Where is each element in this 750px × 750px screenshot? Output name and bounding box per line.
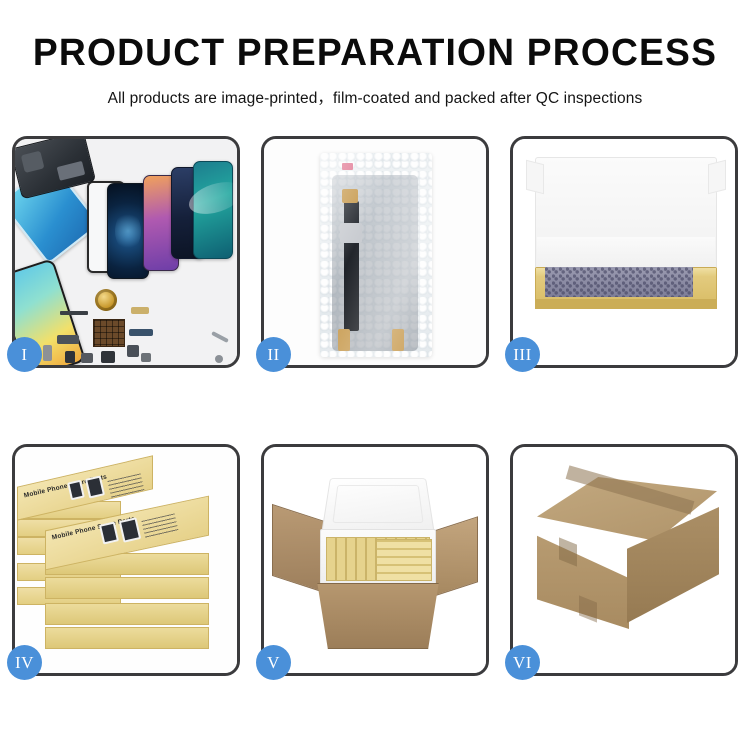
step-image-phone-screens-and-spare-parts: [15, 139, 237, 365]
step-image-bubble-wrapped-screen: [264, 139, 486, 365]
step-badge-2: II: [256, 337, 291, 372]
step-badge-4: IV: [7, 645, 42, 680]
phone-screen-teal-curve-icon: [193, 161, 233, 259]
spare-part-icon: [57, 335, 79, 344]
step-panel-1[interactable]: I: [12, 136, 240, 368]
spare-part-icon: [211, 331, 229, 343]
foam-box-lid-icon: [321, 478, 434, 532]
step-panel-5[interactable]: V: [261, 444, 489, 676]
spare-part-icon: [131, 307, 149, 314]
bubble-wrap-bag-icon: [320, 153, 432, 357]
box-stack-icon: Mobile Phone Spare Parts Mobile Phone Sp…: [17, 467, 237, 665]
spare-part-icon: [43, 345, 52, 361]
packed-boxes-row-icon: [376, 539, 432, 581]
step-image-carton-with-foam-box: [264, 447, 486, 673]
step-panel-4[interactable]: Mobile Phone Spare Parts Mobile Phone Sp…: [12, 444, 240, 676]
plastic-sheen-icon: [320, 153, 432, 357]
step-image-sealed-shipping-carton: [513, 447, 735, 673]
step-badge-6: VI: [505, 645, 540, 680]
spare-part-icon: [215, 355, 223, 363]
product-preparation-infographic: PRODUCT PREPARATION PROCESS All products…: [0, 0, 750, 750]
spare-part-icon: [60, 311, 88, 315]
step-badge-1: I: [7, 337, 42, 372]
kraft-box-icon: [45, 577, 209, 599]
spare-part-icon: [65, 351, 75, 363]
carton-body-icon: [312, 583, 444, 649]
page-title: PRODUCT PREPARATION PROCESS: [8, 34, 743, 72]
spare-part-icon: [81, 353, 93, 363]
speaker-coil-icon: [95, 289, 117, 311]
kraft-box-icon: [45, 627, 209, 649]
header: PRODUCT PREPARATION PROCESS All products…: [0, 0, 750, 108]
step-image-stacked-retail-boxes: Mobile Phone Spare Parts Mobile Phone Sp…: [15, 447, 237, 673]
spare-part-icon: [127, 345, 139, 357]
step-badge-5: V: [256, 645, 291, 680]
chip-grid-icon: [93, 319, 125, 347]
phone-back-housing-icon: [15, 139, 96, 199]
step-panel-2[interactable]: II: [261, 136, 489, 368]
step-image-open-kraft-box-with-foam: [513, 139, 735, 365]
spare-part-icon: [129, 329, 153, 336]
spare-part-icon: [141, 353, 151, 362]
spare-part-icon: [101, 351, 115, 363]
page-subtitle: All products are image-printed，film-coat…: [0, 86, 750, 108]
step-panel-3[interactable]: III: [510, 136, 738, 368]
kraft-box-icon: [45, 603, 209, 625]
step-badge-3: III: [505, 337, 540, 372]
foam-sponge-insert-icon: [545, 267, 693, 297]
step-panel-6[interactable]: VI: [510, 444, 738, 676]
process-steps-grid: I II: [12, 136, 738, 676]
kraft-tray-side-icon: [535, 299, 717, 309]
